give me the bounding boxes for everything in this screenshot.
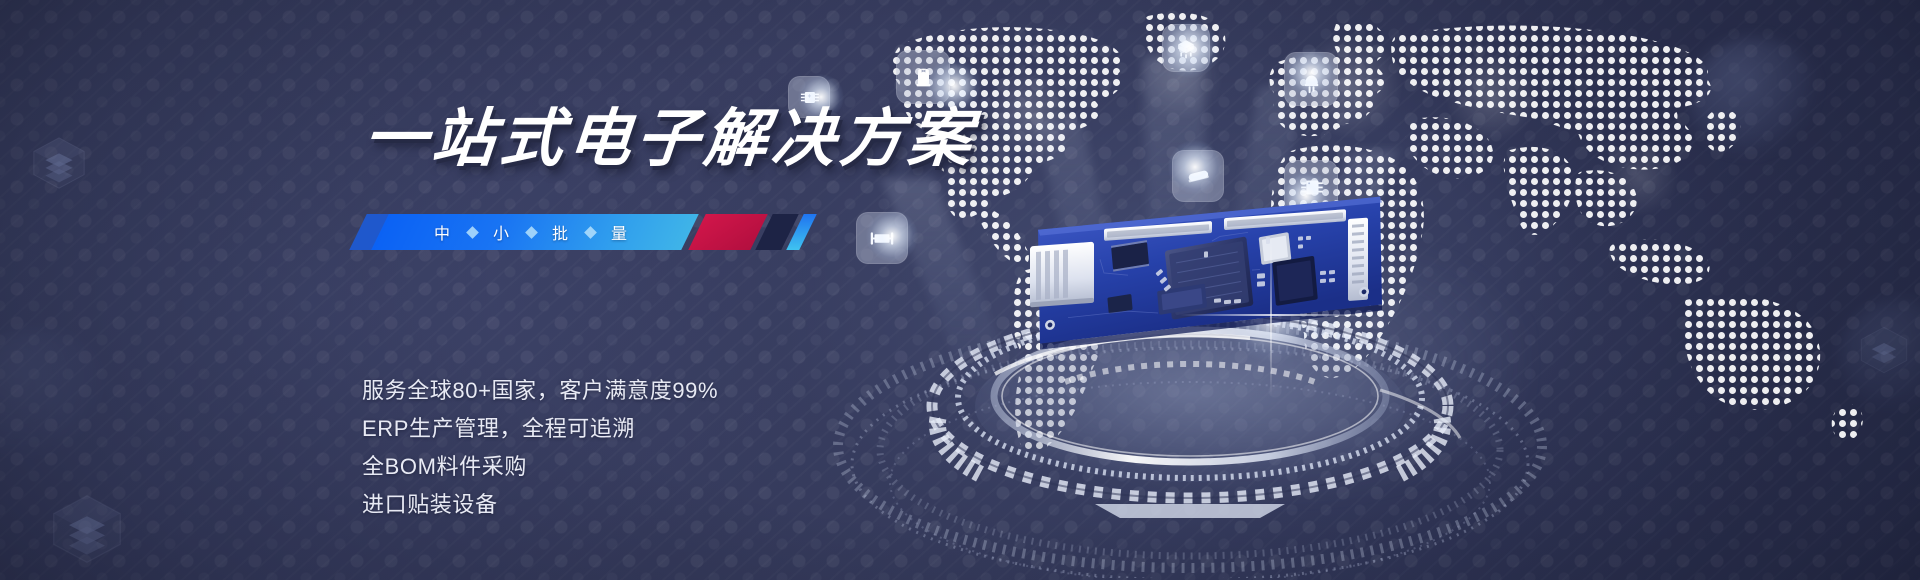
ribbon-char-3: 批 bbox=[536, 220, 586, 244]
lens-flare-streak-vert bbox=[1270, 236, 1272, 396]
hero-artwork bbox=[880, 0, 1920, 580]
transistor-icon bbox=[1172, 34, 1200, 62]
pcb-circuit-board bbox=[1008, 196, 1408, 386]
lens-flare-streak bbox=[1180, 314, 1370, 316]
transistor-badge bbox=[1162, 24, 1210, 72]
ribbon-banner: 中 小 批 量 bbox=[358, 214, 798, 250]
feature-item-4: 进口贴装设备 bbox=[362, 486, 718, 524]
led-badge bbox=[1284, 52, 1338, 106]
page-title: 一站式电子解决方案 bbox=[361, 108, 979, 171]
ribbon-char-4: 量 bbox=[595, 220, 645, 244]
crystal-badge bbox=[1172, 150, 1224, 202]
feature-item-1: 服务全球80+国家，客户满意度99% bbox=[362, 372, 718, 410]
led-icon bbox=[1296, 64, 1327, 95]
feature-item-2: ERP生产管理，全程可追溯 bbox=[362, 410, 718, 448]
ribbon-label-group: 中 小 批 量 bbox=[418, 214, 645, 250]
hero-banner: 一站式电子解决方案 中 小 批 量 服务全球80+国家，客户满意度99% ERP… bbox=[0, 0, 1920, 580]
crystal-oscillator-icon bbox=[1183, 161, 1213, 191]
capacitor-icon bbox=[907, 61, 939, 93]
feature-item-3: 全BOM料件采购 bbox=[362, 448, 718, 486]
ribbon-red-accent bbox=[688, 214, 768, 250]
capacitor-badge bbox=[896, 50, 950, 104]
ribbon-char-1: 中 bbox=[418, 220, 468, 244]
hero-text-column: 一站式电子解决方案 中 小 批 量 服务全球80+国家，客户满意度99% ERP… bbox=[0, 0, 900, 580]
ribbon-char-2: 小 bbox=[477, 220, 527, 244]
feature-list: 服务全球80+国家，客户满意度99% ERP生产管理，全程可追溯 全BOM料件采… bbox=[362, 372, 718, 524]
